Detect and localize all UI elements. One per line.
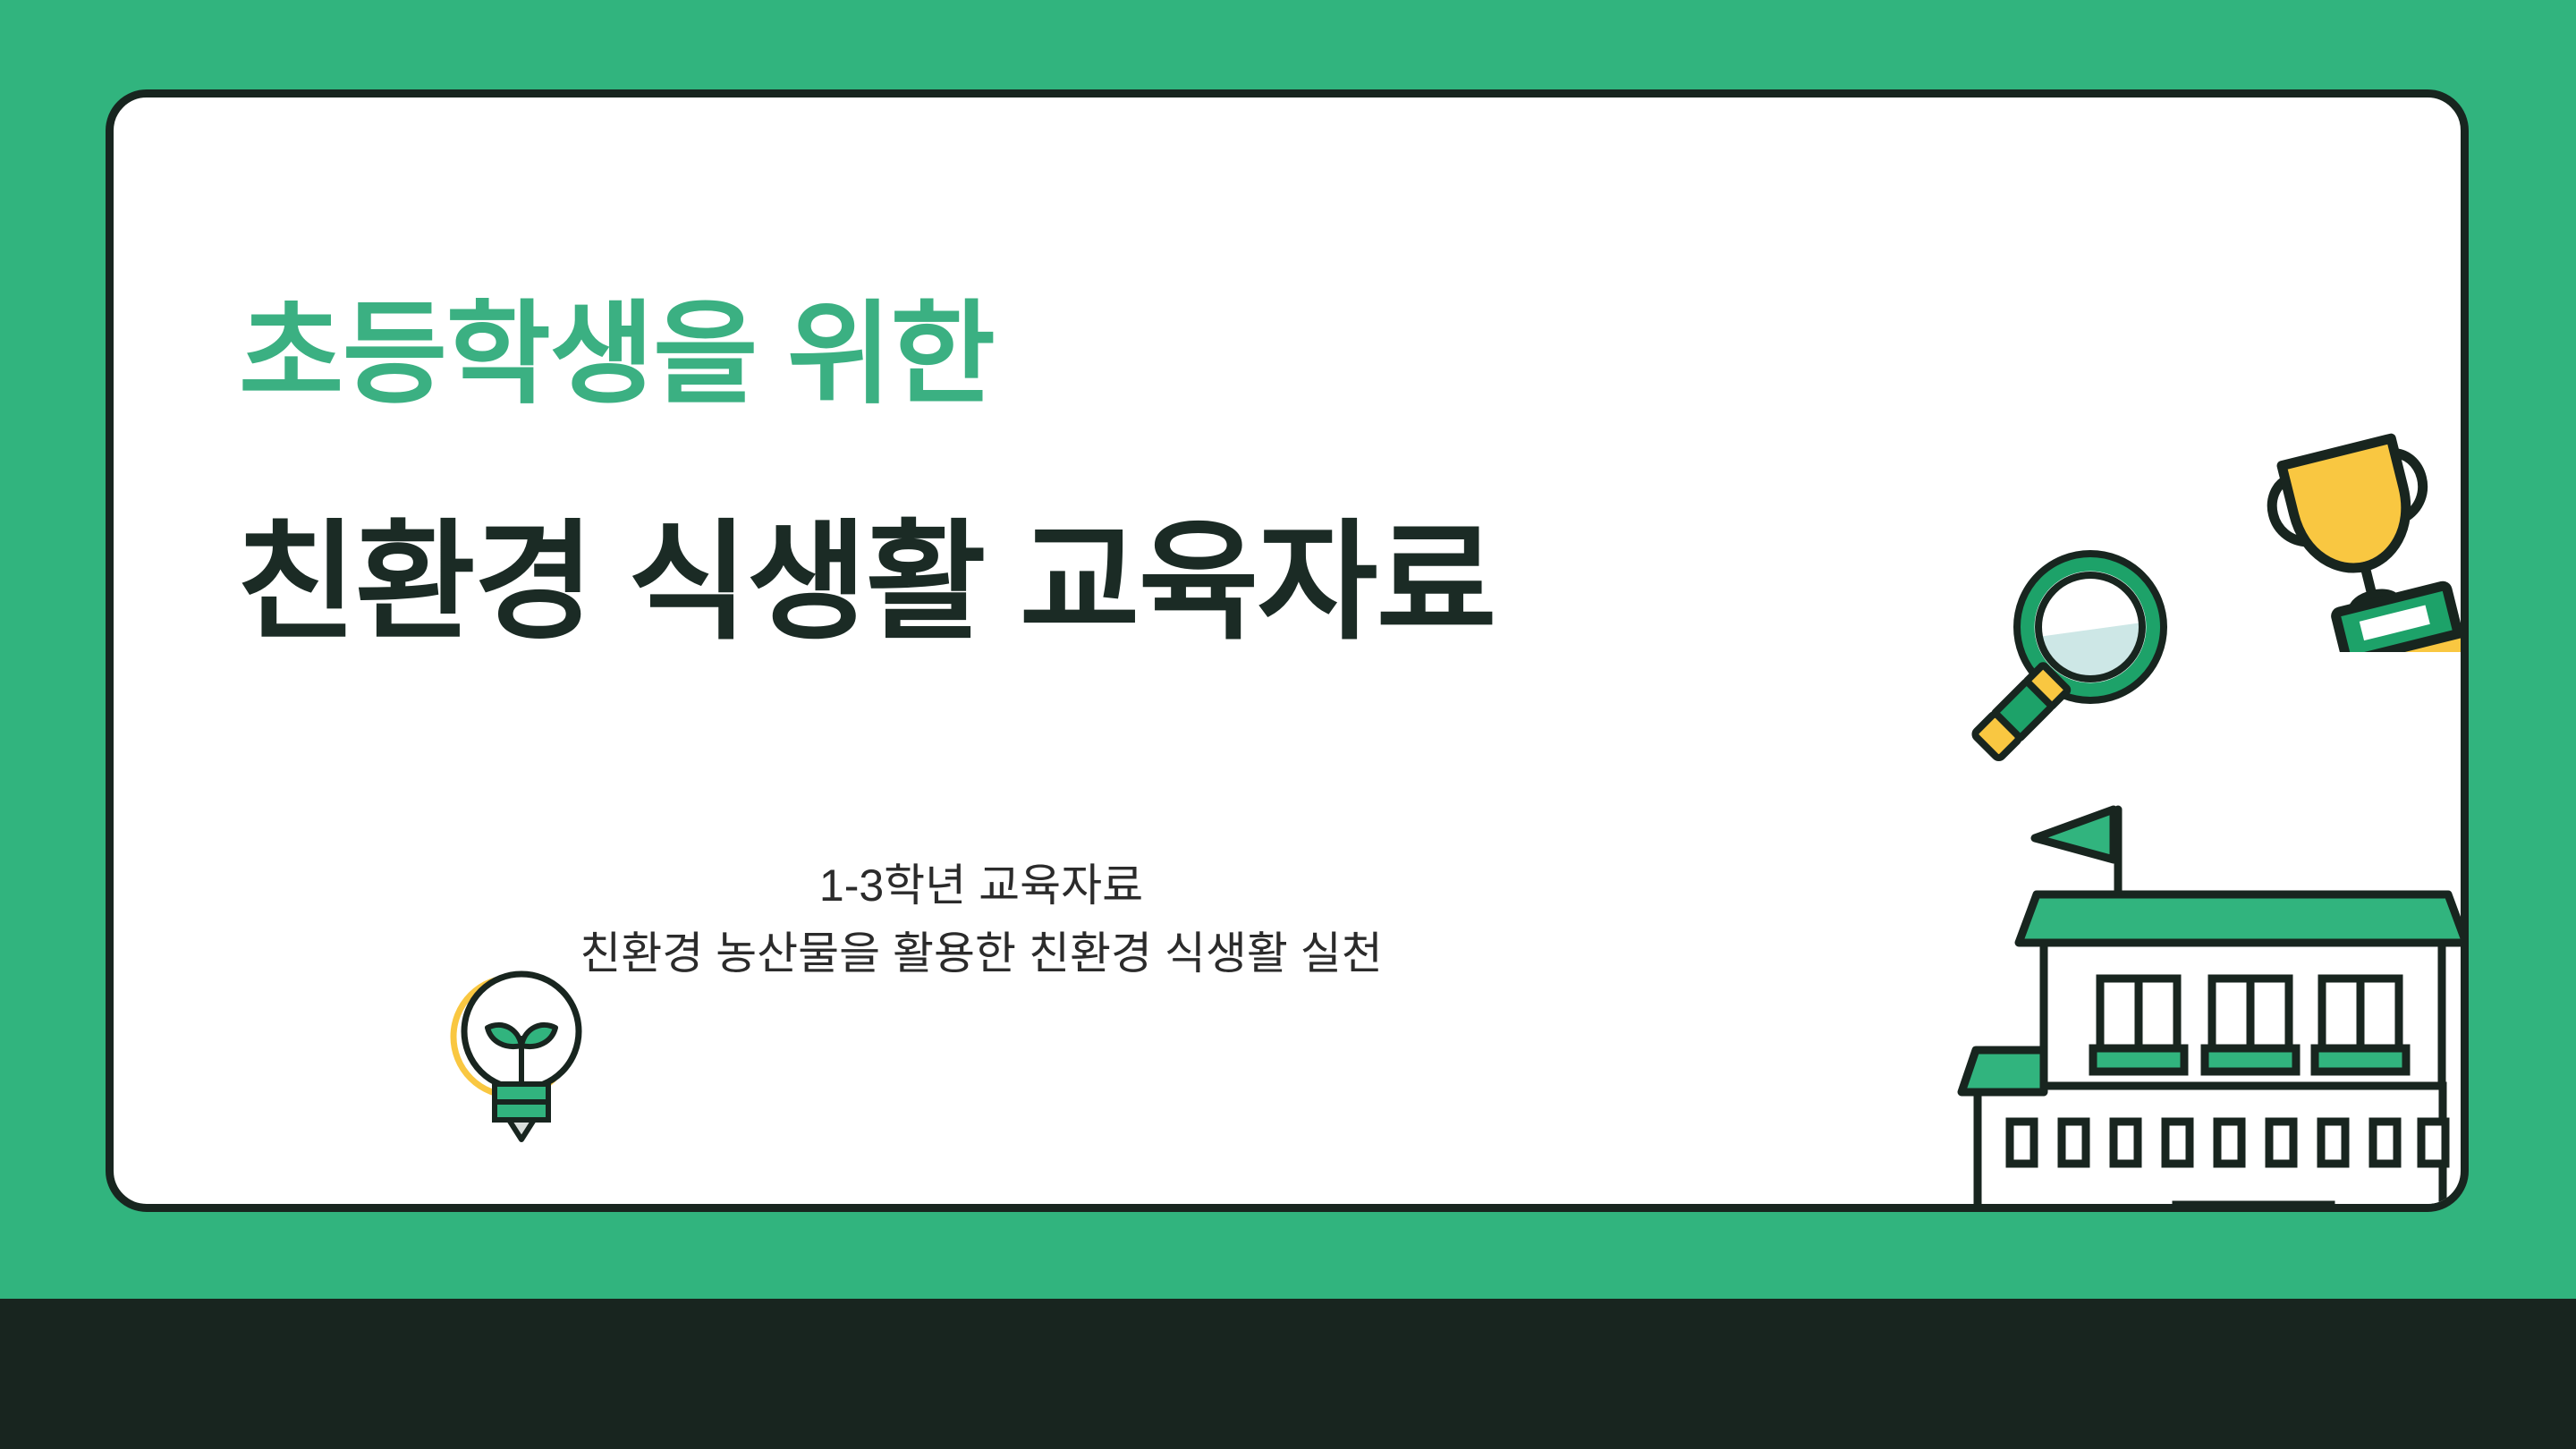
title-line-1: 초등학생을 위한: [239, 299, 994, 411]
title-card: 초등학생을 위한 친환경 식생활 교육자료 1-3학년 교육자료 친환경 농산물…: [106, 89, 2469, 1212]
school-building-icon: [1954, 777, 2469, 1212]
subtitle-line-1: 1-3학년 교육자료: [284, 856, 1679, 917]
slide-canvas: 초등학생을 위한 친환경 식생활 교육자료 1-3학년 교육자료 친환경 농산물…: [0, 0, 2576, 1449]
magnifying-glass-icon: [1947, 545, 2175, 791]
lightbulb-sprout-icon: [446, 956, 588, 1157]
title-line-2: 친환경 식생활 교육자료: [236, 518, 1496, 648]
dark-footer-bar: [0, 1299, 2576, 1449]
trophy-icon: [2232, 393, 2469, 652]
